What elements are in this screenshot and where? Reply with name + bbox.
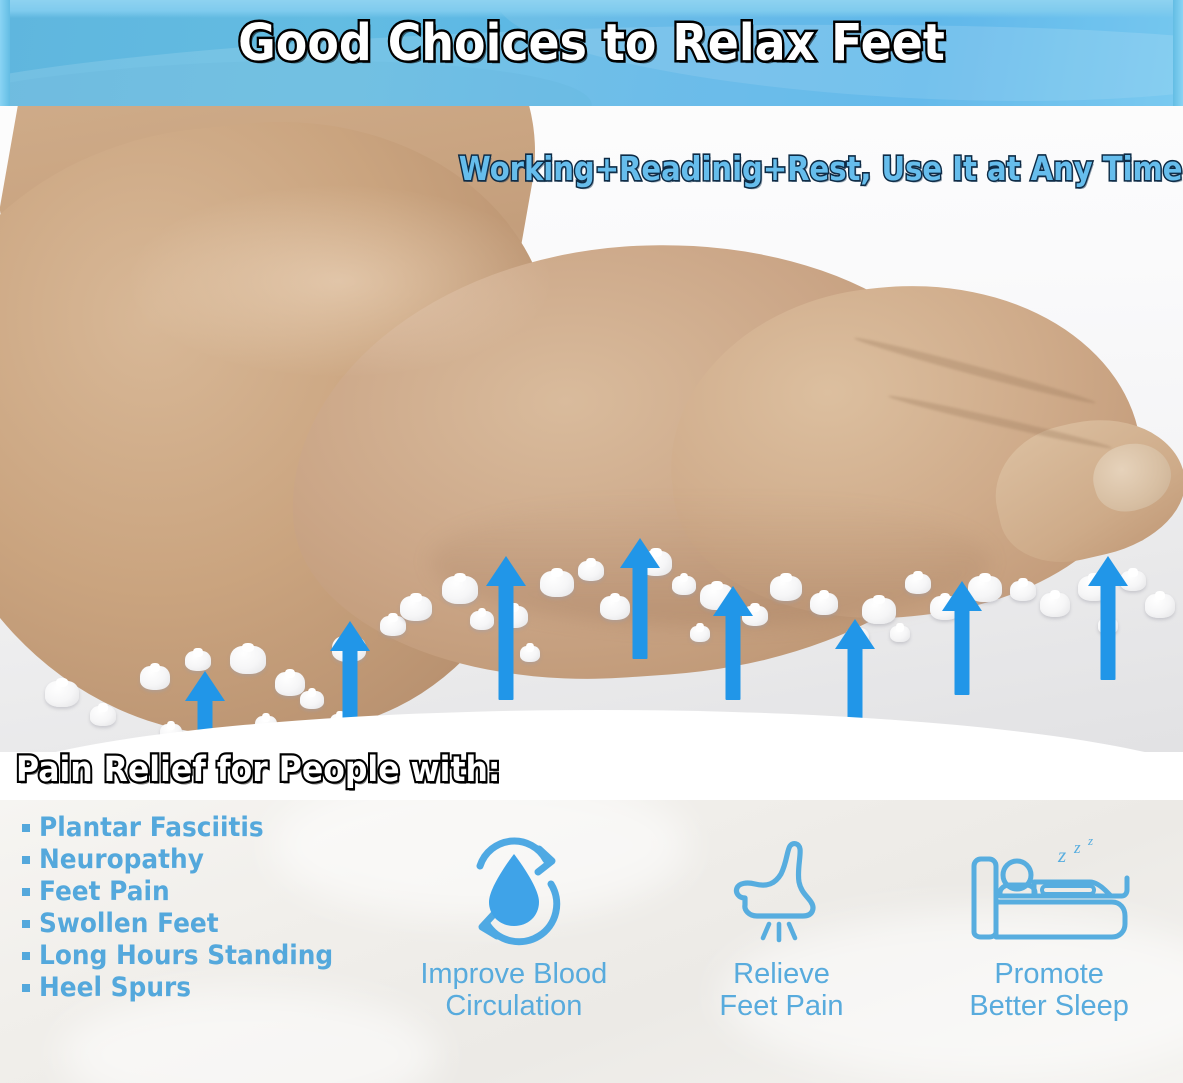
list-item: Swollen Feet <box>22 910 382 937</box>
massage-nub <box>578 561 604 581</box>
massage-nub <box>275 672 305 696</box>
hero-subtitle: Working+Readinig+Rest, Use It at Any Tim… <box>459 149 1183 188</box>
massage-nubs <box>0 106 1183 778</box>
page-title: Good Choices to Relax Feet <box>59 14 1124 73</box>
pain-relief-heading: Pain Relief for People with: <box>16 750 501 790</box>
benefit-label: Promote Better Sleep <box>924 958 1174 1023</box>
svg-text:z: z <box>1073 838 1081 857</box>
massage-nub <box>140 666 170 690</box>
massage-nub <box>690 626 710 642</box>
banner-left-edge <box>0 0 10 106</box>
list-item: Neuropathy <box>22 846 382 873</box>
massage-nub <box>1010 581 1036 601</box>
svg-text:z: z <box>1087 836 1093 848</box>
condition-label: Swollen Feet <box>39 910 219 937</box>
massage-nub <box>442 576 478 604</box>
massage-nub <box>810 593 838 615</box>
pressure-arrow-icon <box>713 586 753 704</box>
massage-nub <box>90 706 116 726</box>
banner-right-edge <box>1173 0 1183 106</box>
list-item: Long Hours Standing <box>22 942 382 969</box>
massage-nub <box>540 571 574 597</box>
massage-nub <box>1145 594 1175 618</box>
benefit-promote-better-sleep: z z z Promote Better Sleep <box>924 836 1174 1023</box>
benefits-panel: Plantar FasciitisNeuropathyFeet PainSwol… <box>0 800 1183 1083</box>
condition-label: Heel Spurs <box>39 974 191 1001</box>
bullet-square-icon <box>22 856 30 864</box>
pressure-arrow-icon <box>1088 556 1128 684</box>
benefit-label: Relieve Feet Pain <box>656 958 906 1023</box>
condition-label: Feet Pain <box>39 878 170 905</box>
list-item: Heel Spurs <box>22 974 382 1001</box>
massage-nub <box>45 681 79 707</box>
bullet-square-icon <box>22 984 30 992</box>
bullet-square-icon <box>22 888 30 896</box>
list-item: Plantar Fasciitis <box>22 814 382 841</box>
svg-text:z: z <box>1057 843 1066 867</box>
massage-nub <box>300 691 324 709</box>
condition-label: Long Hours Standing <box>39 942 333 969</box>
pressure-arrow-icon <box>620 538 660 663</box>
conditions-list: Plantar FasciitisNeuropathyFeet PainSwol… <box>22 814 382 1006</box>
condition-label: Plantar Fasciitis <box>39 814 264 841</box>
massage-nub <box>230 646 266 674</box>
massage-nub <box>890 626 910 642</box>
massage-nub <box>380 616 406 636</box>
bullet-square-icon <box>22 824 30 832</box>
pressure-arrow-icon <box>486 556 526 704</box>
benefit-icons-row: Improve Blood Circulation Relieve Feet P… <box>380 836 1183 1083</box>
bullet-square-icon <box>22 920 30 928</box>
benefit-improve-blood-circulation: Improve Blood Circulation <box>389 836 639 1023</box>
list-item: Feet Pain <box>22 878 382 905</box>
massage-nub <box>400 596 432 621</box>
massage-nub <box>770 576 802 601</box>
product-photo: Working+Readinig+Rest, Use It at Any Tim… <box>0 106 1183 778</box>
pressure-arrow-icon <box>942 581 982 699</box>
foot-relief-icon <box>656 836 906 954</box>
sleeping-person-bed-icon: z z z <box>924 836 1174 954</box>
massage-nub <box>185 651 211 671</box>
water-drop-circulation-icon <box>389 836 639 954</box>
header-banner: Good Choices to Relax Feet <box>0 0 1183 106</box>
bullet-square-icon <box>22 952 30 960</box>
condition-label: Neuropathy <box>39 846 204 873</box>
massage-nub <box>672 576 696 595</box>
benefit-relieve-feet-pain: Relieve Feet Pain <box>656 836 906 1023</box>
product-infographic: Good Choices to Relax Feet Working+Readi… <box>0 0 1183 1083</box>
massage-nub <box>905 574 931 594</box>
massage-nub <box>1040 593 1070 617</box>
benefit-label: Improve Blood Circulation <box>389 958 639 1023</box>
